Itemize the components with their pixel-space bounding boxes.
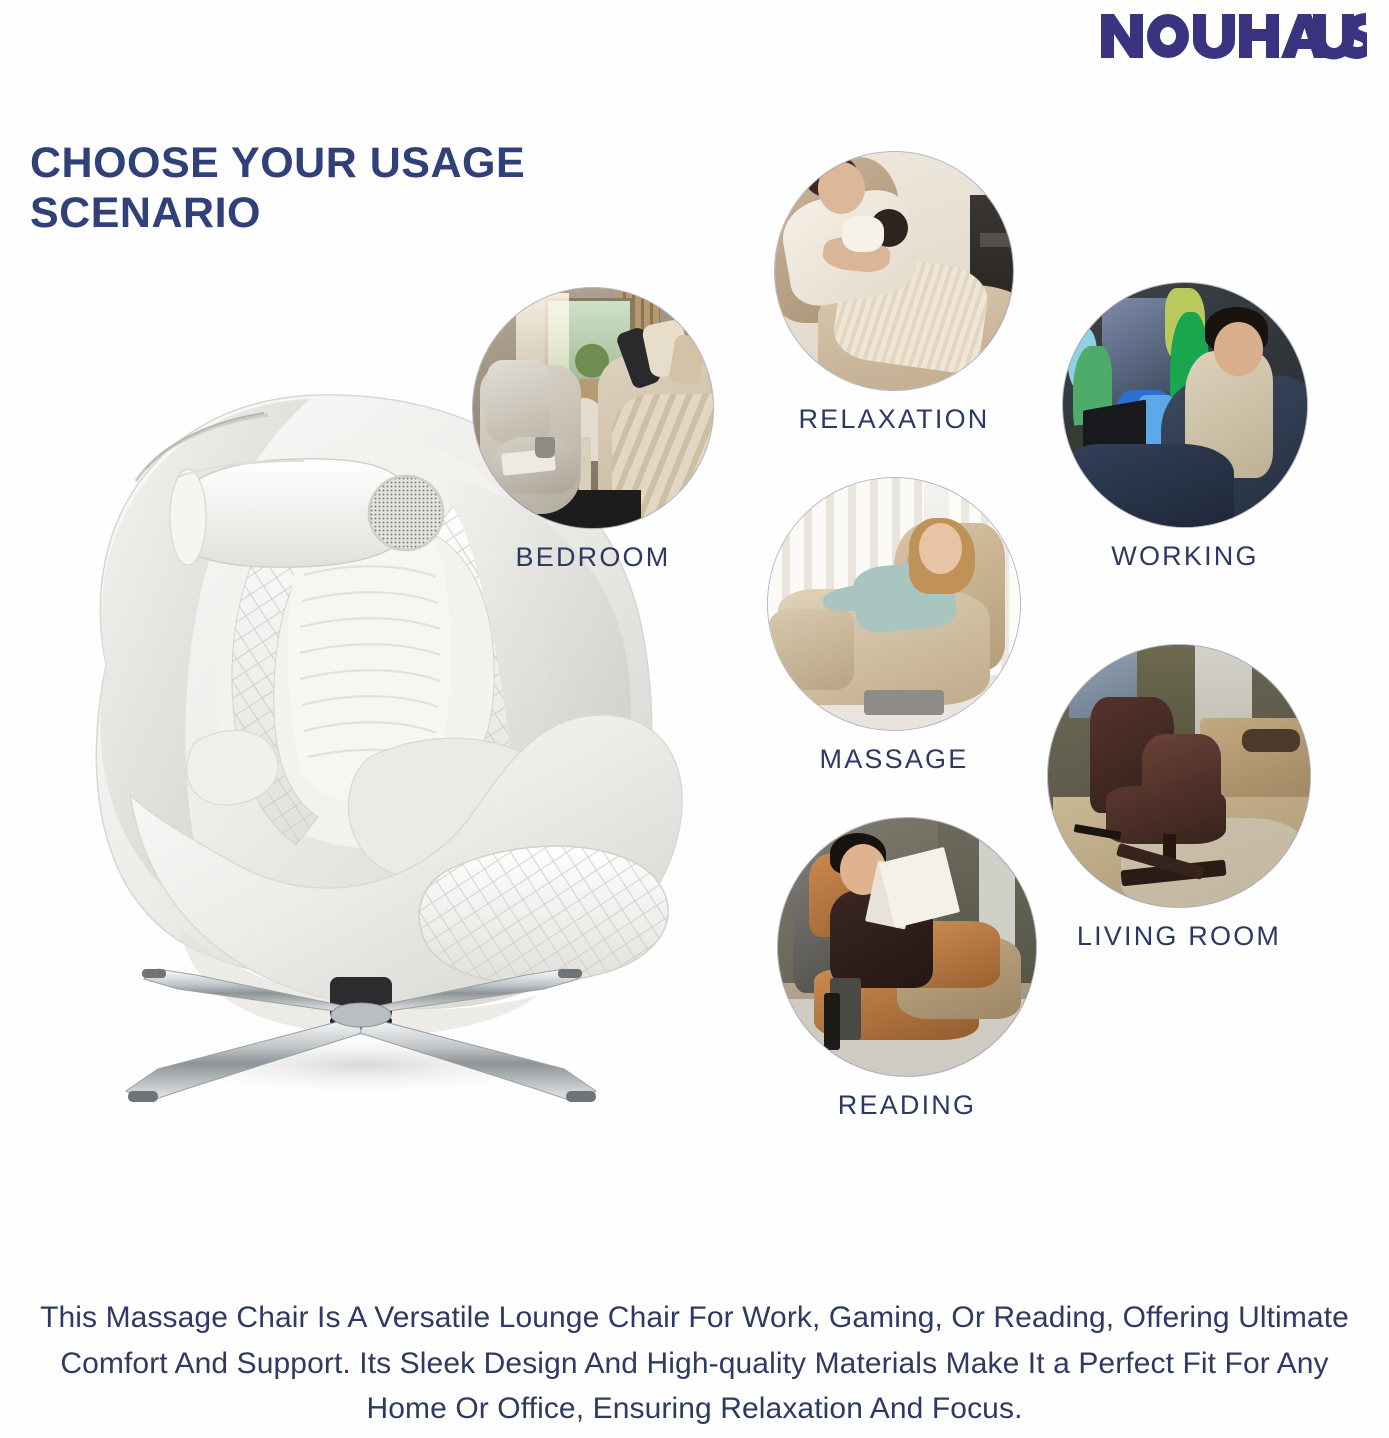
product-description: This Massage Chair Is A Versatile Lounge…	[0, 1295, 1389, 1432]
headline-line-2: SCENARIO	[30, 188, 670, 238]
scenario-massage[interactable]: MASSAGE	[768, 478, 1020, 775]
headline-line-1: CHOOSE YOUR USAGE	[30, 138, 670, 188]
scenario-relaxation[interactable]: RELAXATION	[775, 152, 1013, 435]
scenario-image-relaxation	[775, 152, 1013, 390]
scenario-label-living-room: LIVING ROOM	[1048, 921, 1310, 952]
scenario-living-room[interactable]: LIVING ROOM	[1048, 645, 1310, 952]
scenario-image-living-room	[1048, 645, 1310, 907]
scenario-working[interactable]: WORKING	[1063, 283, 1307, 572]
scenario-label-relaxation: RELAXATION	[775, 404, 1013, 435]
scenario-label-massage: MASSAGE	[768, 744, 1020, 775]
scenario-label-reading: READING	[778, 1090, 1036, 1121]
page-title: CHOOSE YOUR USAGE SCENARIO	[30, 138, 670, 239]
scenario-image-massage	[768, 478, 1020, 730]
scenario-reading[interactable]: READING	[778, 818, 1036, 1121]
nouhaus-logo	[1099, 8, 1367, 64]
scenario-bedroom[interactable]: BEDROOM	[473, 288, 713, 573]
scenario-image-working	[1063, 283, 1307, 527]
scenario-label-working: WORKING	[1063, 541, 1307, 572]
scenario-label-bedroom: BEDROOM	[473, 542, 713, 573]
scenario-image-bedroom	[473, 288, 713, 528]
infographic-page: CHOOSE YOUR USAGE SCENARIO	[0, 0, 1389, 1438]
scenario-image-reading	[778, 818, 1036, 1076]
